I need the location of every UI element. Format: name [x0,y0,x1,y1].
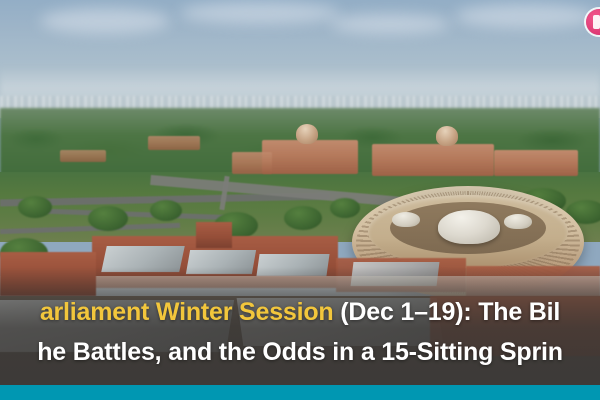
cloud-wisp [330,14,450,34]
foreground-tower [196,222,232,248]
headline-rest-text: (Dec 1–19): The Bil [334,298,561,326]
article-hero-card: arliament Winter Session (Dec 1–19): The… [0,0,600,400]
secretariat-block-right [372,144,494,176]
parliament-central-dome [438,210,500,244]
foreground-roof-panel [186,250,256,274]
distant-building-cluster [60,150,106,162]
secretariat-wing-far-right [494,150,578,176]
secretariat-block-left [262,140,358,174]
secretariat-dome-left [296,124,318,144]
parliament-secondary-dome [392,212,420,227]
secretariat-wing-far-left [232,152,272,174]
cloud-wisp [40,8,170,34]
bottom-accent-bar [0,385,600,400]
distant-building-cluster [148,136,200,150]
secretariat-dome-right [436,126,458,146]
cloud-wisp [180,2,340,24]
foreground-roof-panel [101,246,185,272]
foreground-roof-panel [256,254,329,276]
parliament-secondary-dome [504,214,532,229]
tree [18,196,52,218]
headline-accent-text: arliament Winter Session [40,298,334,326]
foreground-brick-left [0,252,96,296]
cloud-wisp [455,4,595,28]
headline: arliament Winter Session (Dec 1–19): The… [0,292,600,372]
headline-line-2: he Battles, and the Odds in a 15-Sitting… [0,332,600,372]
tree [150,200,182,221]
tree [284,206,322,230]
headline-line-1: arliament Winter Session (Dec 1–19): The… [0,292,600,332]
tree [88,206,128,231]
